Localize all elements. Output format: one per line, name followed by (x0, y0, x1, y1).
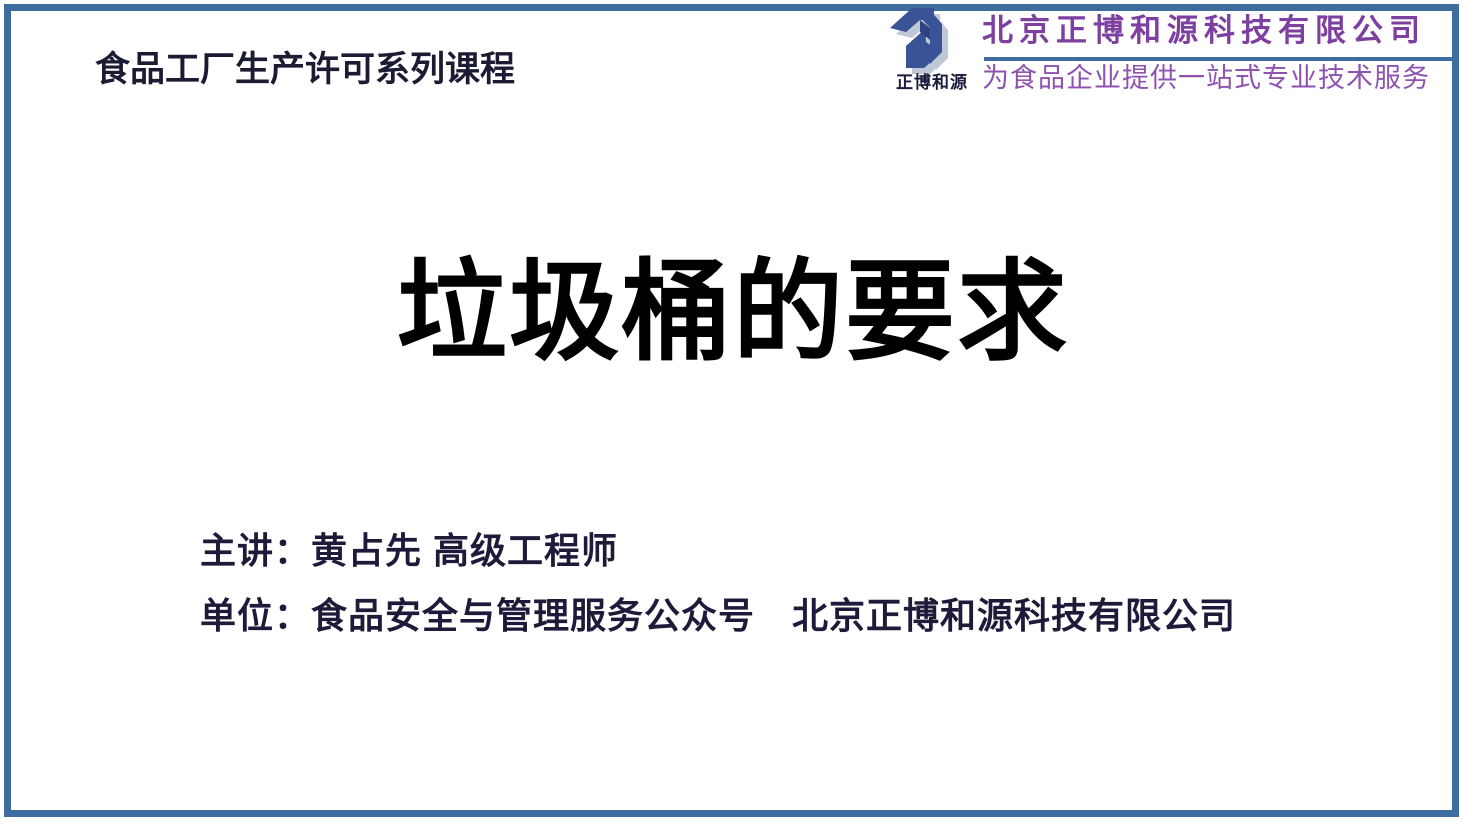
presenter-info: 主讲：黄占先 高级工程师 单位：食品安全与管理服务公众号 北京正博和源科技有限公… (200, 533, 1400, 634)
lecturer-line: 主讲：黄占先 高级工程师 (200, 533, 1400, 569)
company-slogan: 为食品企业提供一站式专业技术服务 (982, 64, 1456, 94)
organization-line: 单位：食品安全与管理服务公众号 北京正博和源科技有限公司 (200, 598, 1400, 634)
company-z-diamond-logo-icon (884, 8, 980, 78)
company-name: 北京正博和源科技有限公司 (982, 14, 1456, 48)
brand-divider (984, 57, 1454, 61)
company-logo-wordmark: 正博和源 (884, 74, 980, 91)
course-series-title: 食品工厂生产许可系列课程 (95, 52, 515, 87)
slide-header: 食品工厂生产许可系列课程 (0, 0, 1466, 115)
page-title: 垃圾桶的要求 (0, 250, 1466, 377)
slide-border-frame (4, 4, 1459, 817)
company-logo: 正博和源 (884, 8, 980, 104)
company-text-block: 北京正博和源科技有限公司 为食品企业提供一站式专业技术服务 (982, 6, 1456, 108)
presentation-slide: 食品工厂生产许可系列课程 (0, 0, 1466, 824)
company-brand-block: 正博和源 北京正博和源科技有限公司 为食品企业提供一站式专业技术服务 (884, 6, 1456, 108)
